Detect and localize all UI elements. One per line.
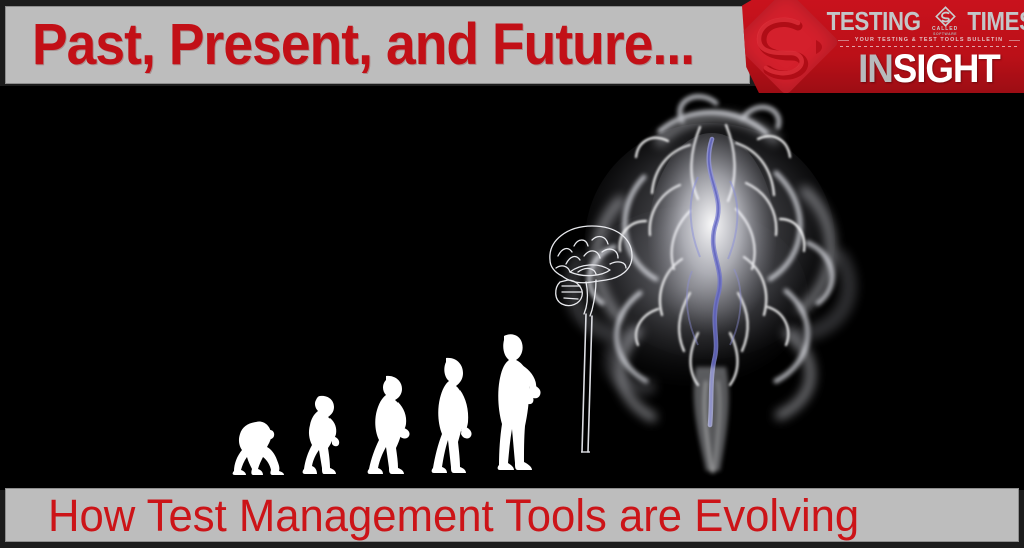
- artwork-stage: [0, 86, 1024, 490]
- insight-row: INSIGHT: [838, 49, 1020, 89]
- page-subtitle: How Test Management Tools are Evolving: [48, 493, 859, 538]
- evolution-figure-upright-hominid: [352, 372, 416, 478]
- bottom-subhead-banner: How Test Management Tools are Evolving: [5, 488, 1019, 542]
- banner-canvas: Past, Present, and Future... TESTING: [0, 0, 1024, 548]
- brain-and-spinal-cord-xray: [540, 216, 660, 476]
- tagline-rule-left: [838, 40, 849, 41]
- insight-part-sight: SIGHT: [893, 47, 1000, 91]
- logo-wordmark-insight: INSIGHT: [858, 49, 1000, 89]
- testing-times-row: TESTING CALLED SOFTWARE TIMES: [838, 6, 1020, 36]
- badge-brand-sub: SOFTWARE: [933, 33, 957, 36]
- evolution-figure-ape-knuckle-walking: [226, 416, 288, 478]
- badge-diamond-icon: [935, 6, 956, 27]
- logo-word-testing: TESTING: [826, 8, 920, 34]
- tagline-row: YOUR TESTING & TEST TOOLS BULLETIN: [838, 37, 1020, 43]
- logo-text-column: TESTING CALLED SOFTWARE TIMES YOUR TESTI…: [838, 6, 1020, 89]
- evolution-figure-early-human: [416, 354, 478, 478]
- tagline-rule-right: [1009, 40, 1020, 41]
- top-headline-banner: Past, Present, and Future...: [5, 6, 750, 84]
- evolution-figure-modern-human: [478, 330, 544, 478]
- insight-part-in: IN: [858, 47, 893, 91]
- s-diamond-logo: [742, 0, 840, 93]
- evolution-figure-early-hominid: [288, 392, 350, 478]
- logo-word-times: TIMES: [968, 8, 1024, 34]
- called-software-badge: CALLED SOFTWARE: [932, 6, 958, 36]
- s-glyph-icon: [742, 0, 840, 93]
- page-title: Past, Present, and Future...: [32, 16, 694, 74]
- testing-times-insight-logo[interactable]: TESTING CALLED SOFTWARE TIMES YOUR TESTI…: [742, 0, 1024, 93]
- logo-tagline: YOUR TESTING & TEST TOOLS BULLETIN: [855, 37, 1003, 43]
